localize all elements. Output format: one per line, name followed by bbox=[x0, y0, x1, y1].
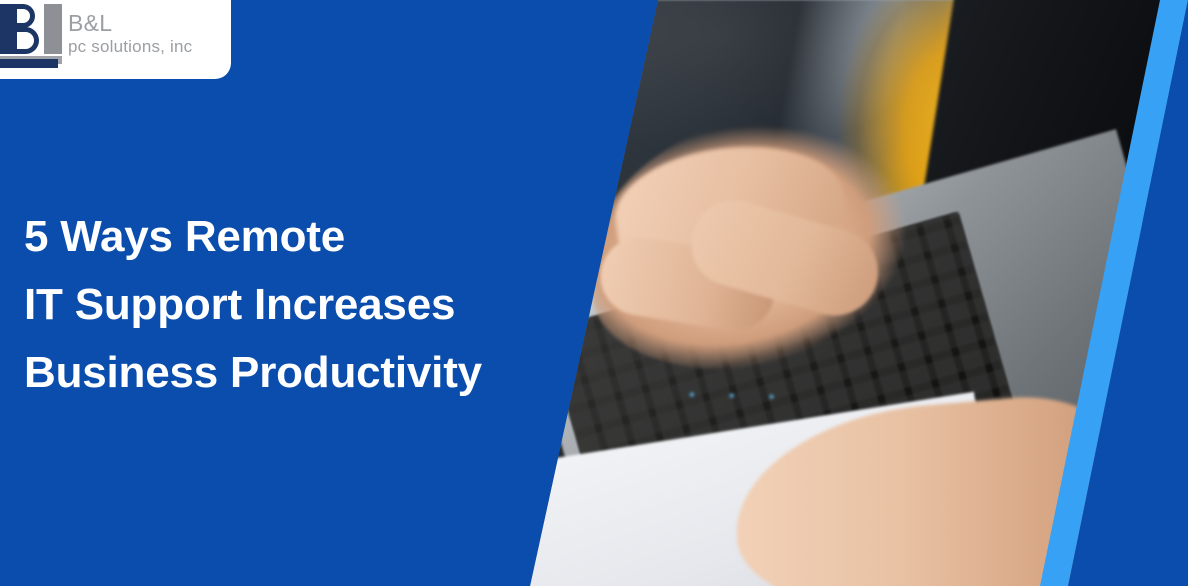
logo-gray-bar bbox=[44, 4, 62, 54]
headline-line-3: Business Productivity bbox=[24, 339, 544, 407]
logo-wordmark: B&L pc solutions, inc bbox=[66, 0, 192, 56]
brand-logo[interactable]: B&L pc solutions, inc bbox=[0, 0, 231, 79]
logo-subtitle: pc solutions, inc bbox=[68, 38, 192, 56]
page-title: 5 Ways Remote IT Support Increases Busin… bbox=[24, 203, 544, 407]
logo-underline-navy bbox=[0, 59, 58, 68]
headline-line-1: 5 Ways Remote bbox=[24, 203, 544, 271]
headline-line-2: IT Support Increases bbox=[24, 271, 544, 339]
logo-title: B&L bbox=[68, 11, 192, 36]
marketing-banner: 5 Ways Remote IT Support Increases Busin… bbox=[0, 0, 1188, 586]
logo-letter-b bbox=[17, 4, 41, 54]
bl-logo-mark-icon bbox=[0, 2, 66, 72]
